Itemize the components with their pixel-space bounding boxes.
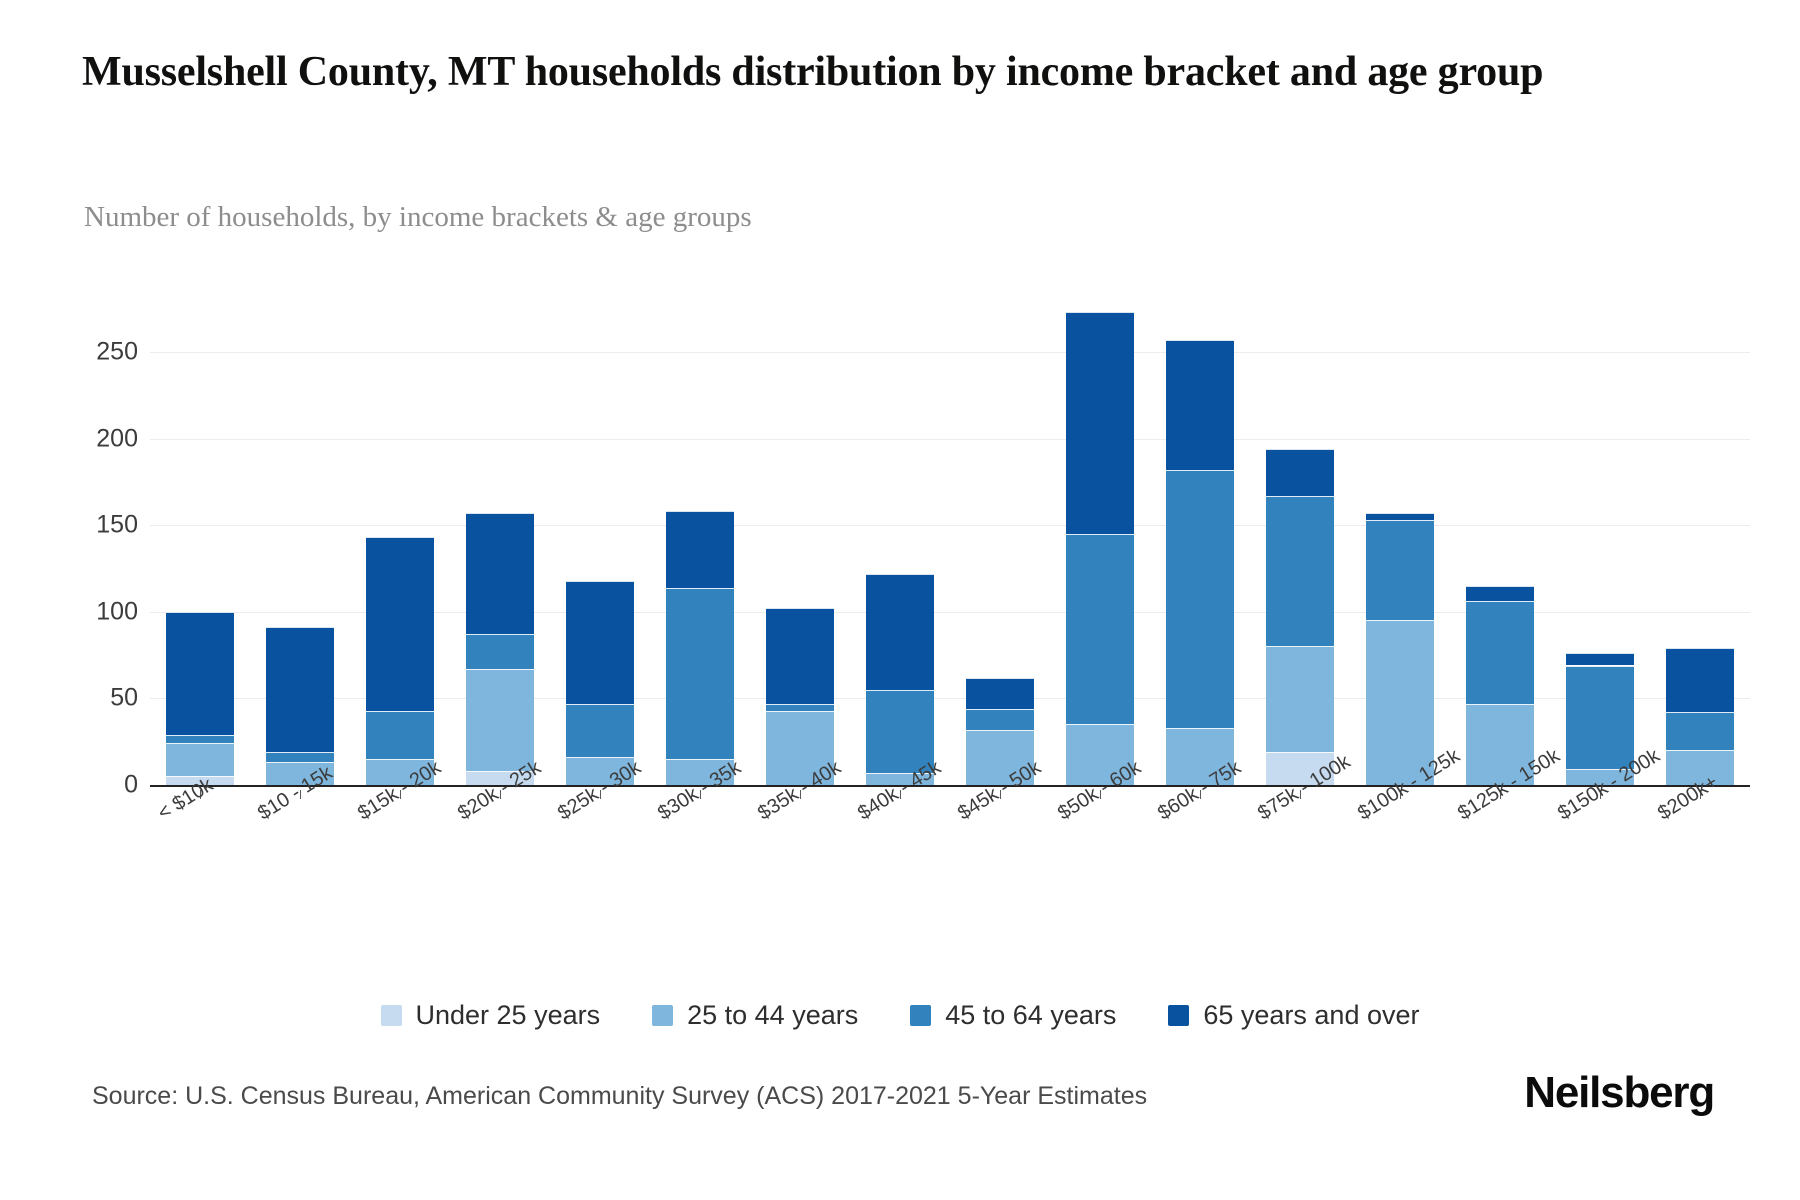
bar-group[interactable] [266, 300, 334, 785]
y-axis-tick-label: 200 [18, 424, 138, 453]
page-title: Musselshell County, MT households distri… [82, 48, 1702, 97]
legend-item-label: 25 to 44 years [687, 1000, 858, 1031]
legend-swatch-icon [910, 1005, 931, 1026]
bar-segment[interactable] [766, 608, 834, 703]
bar-group[interactable] [666, 300, 734, 785]
bar-segment[interactable] [1266, 646, 1334, 752]
bar-segment[interactable] [1166, 340, 1234, 470]
bar-segment[interactable] [466, 669, 534, 771]
chart-page: Musselshell County, MT households distri… [0, 0, 1800, 1200]
brand-logo: Neilsberg [1524, 1068, 1714, 1118]
bar-segment[interactable] [1366, 620, 1434, 785]
y-axis-tick-label: 0 [18, 771, 138, 800]
bar-segment[interactable] [766, 704, 834, 711]
bar-segment[interactable] [566, 704, 634, 758]
y-axis-tick-label: 100 [18, 597, 138, 626]
y-axis-tick-label: 250 [18, 337, 138, 366]
bar-segment[interactable] [466, 513, 534, 634]
bar-group[interactable] [866, 300, 934, 785]
bar-group[interactable] [1466, 300, 1534, 785]
bar-segment[interactable] [1566, 666, 1634, 770]
bar-segment[interactable] [166, 735, 234, 744]
bar-segment[interactable] [666, 511, 734, 587]
bar-segment[interactable] [1266, 449, 1334, 496]
bar-segment[interactable] [966, 678, 1034, 709]
y-axis-tick-label: 50 [18, 684, 138, 713]
bar-segment[interactable] [1366, 520, 1434, 620]
bar-segment[interactable] [1466, 601, 1534, 703]
bar-group[interactable] [1566, 300, 1634, 785]
legend-item[interactable]: 45 to 64 years [910, 1000, 1116, 1031]
bar-segment[interactable] [666, 588, 734, 759]
x-axis-labels: < $10k$10 - 15k$15k - 20k$20k - 25k$25k … [150, 790, 1750, 910]
chart-subtitle: Number of households, by income brackets… [84, 200, 1484, 235]
bar-segment[interactable] [1666, 712, 1734, 750]
bar-segment[interactable] [166, 612, 234, 735]
legend-item-label: 45 to 64 years [945, 1000, 1116, 1031]
legend-item-label: 65 years and over [1203, 1000, 1419, 1031]
legend-item[interactable]: 25 to 44 years [652, 1000, 858, 1031]
bar-segment[interactable] [966, 709, 1034, 730]
bar-segment[interactable] [1166, 470, 1234, 728]
plot-area: 050100150200250 [150, 300, 1750, 785]
bar-group[interactable] [466, 300, 534, 785]
bar-segment[interactable] [866, 690, 934, 773]
bar-group[interactable] [1266, 300, 1334, 785]
bar-group[interactable] [1166, 300, 1234, 785]
bar-group[interactable] [966, 300, 1034, 785]
legend-swatch-icon [381, 1005, 402, 1026]
bar-segment[interactable] [1566, 653, 1634, 665]
bar-segment[interactable] [466, 634, 534, 669]
bar-group[interactable] [766, 300, 834, 785]
bar-segment[interactable] [866, 574, 934, 690]
bar-segment[interactable] [1266, 496, 1334, 647]
bar-segment[interactable] [166, 743, 234, 776]
legend-item[interactable]: Under 25 years [381, 1000, 601, 1031]
chart-legend: Under 25 years25 to 44 years45 to 64 yea… [0, 1000, 1800, 1031]
bar-segment[interactable] [566, 581, 634, 704]
bar-segment[interactable] [266, 627, 334, 752]
bar-segment[interactable] [1066, 534, 1134, 725]
y-axis-tick-label: 150 [18, 511, 138, 540]
legend-swatch-icon [1168, 1005, 1189, 1026]
legend-item-label: Under 25 years [416, 1000, 601, 1031]
source-note: Source: U.S. Census Bureau, American Com… [92, 1082, 1147, 1111]
bar-segment[interactable] [1466, 586, 1534, 602]
bars-layer [150, 300, 1750, 785]
bar-group[interactable] [1666, 300, 1734, 785]
bar-group[interactable] [1366, 300, 1434, 785]
bar-group[interactable] [1066, 300, 1134, 785]
bar-group[interactable] [166, 300, 234, 785]
bar-group[interactable] [566, 300, 634, 785]
bar-segment[interactable] [1066, 312, 1134, 534]
bar-segment[interactable] [1666, 648, 1734, 712]
legend-item[interactable]: 65 years and over [1168, 1000, 1419, 1031]
bar-group[interactable] [366, 300, 434, 785]
bar-segment[interactable] [366, 537, 434, 710]
legend-swatch-icon [652, 1005, 673, 1026]
bar-segment[interactable] [366, 711, 434, 760]
bar-segment[interactable] [1366, 513, 1434, 520]
